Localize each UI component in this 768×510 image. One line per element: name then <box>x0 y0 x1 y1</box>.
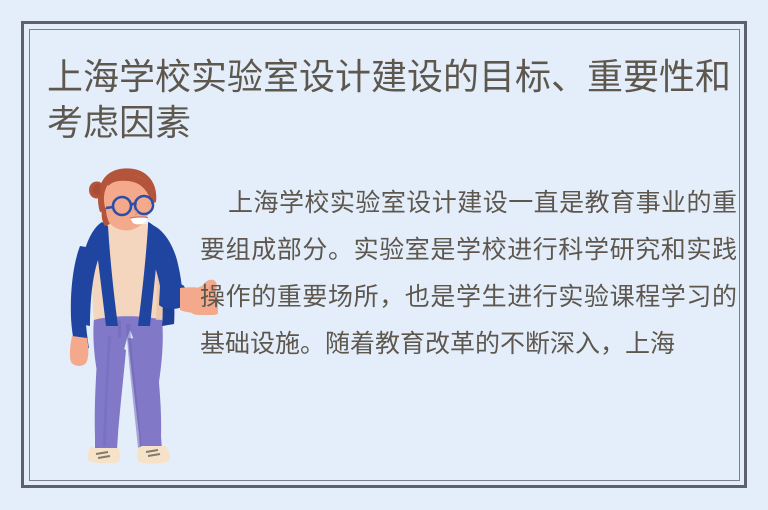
glasses-bridge <box>131 204 136 206</box>
article-body: 上海学校实验室设计建设一直是教育事业的重要组成部分。实验室是学校进行科学研究和实… <box>200 180 737 368</box>
page-title: 上海学校实验室设计建设的目标、重要性和考虑因素 <box>47 54 737 146</box>
pants-fly <box>118 318 121 338</box>
page-canvas: 上海学校实验室设计建设的目标、重要性和考虑因素 <box>0 0 768 510</box>
hand-left <box>70 336 88 366</box>
shoe-left <box>88 446 120 463</box>
person-thumbs-up-illustration <box>58 168 218 468</box>
glasses-temple <box>106 207 113 208</box>
